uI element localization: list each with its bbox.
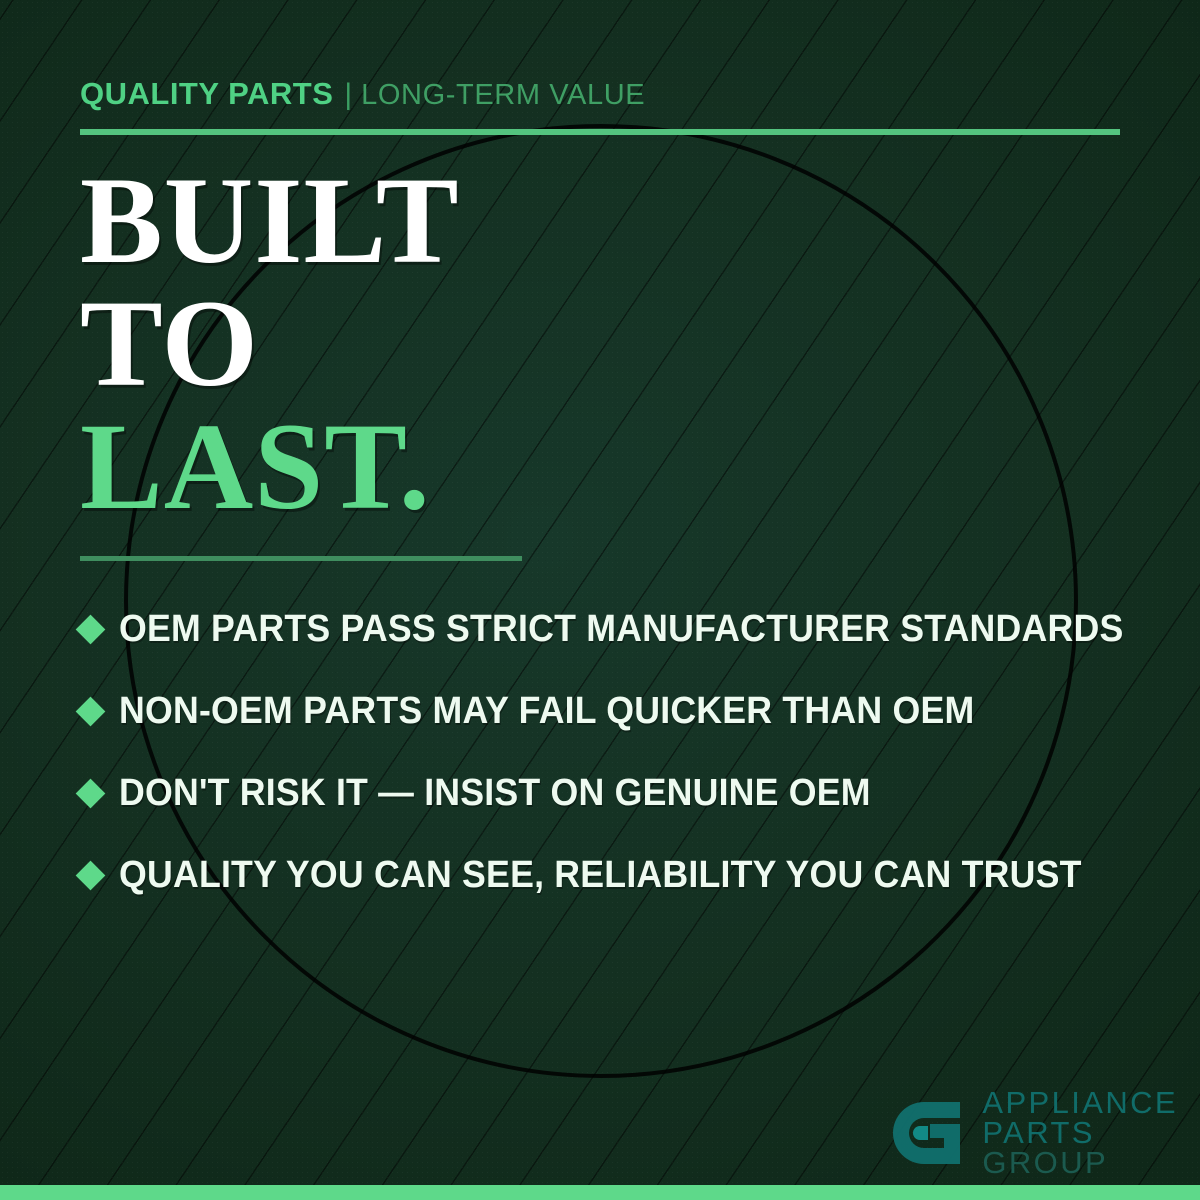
diamond-bullet-icon xyxy=(76,860,106,890)
promo-poster: QUALITY PARTS | LONG-TERM VALUE BUILT TO… xyxy=(0,0,1200,1200)
eyebrow-secondary-text: LONG-TERM VALUE xyxy=(361,79,645,112)
header-divider-rule xyxy=(80,129,1120,135)
headline-line-3: LAST. xyxy=(80,406,460,529)
list-item-label: OEM PARTS PASS STRICT MANUFACTURER STAND… xyxy=(119,608,1123,651)
eyebrow-separator: | xyxy=(333,78,361,112)
eyebrow-heading: QUALITY PARTS | LONG-TERM VALUE xyxy=(80,76,645,112)
eyebrow-primary-text: QUALITY PARTS xyxy=(80,76,333,112)
brand-word-appliance: APPLIANCE xyxy=(982,1088,1178,1118)
g-monogram-icon xyxy=(890,1094,968,1172)
bottom-accent-bar xyxy=(0,1185,1200,1200)
headline-line-2: TO xyxy=(80,283,460,406)
diamond-bullet-icon xyxy=(76,696,106,726)
list-item-label: NON-OEM PARTS MAY FAIL QUICKER THAN OEM xyxy=(119,690,974,733)
list-item: QUALITY YOU CAN SEE, RELIABILITY YOU CAN… xyxy=(80,834,1150,916)
poster-content: QUALITY PARTS | LONG-TERM VALUE BUILT TO… xyxy=(0,0,1200,1200)
headline-line-1: BUILT xyxy=(80,160,460,283)
brand-wordmark: APPLIANCE PARTS GROUP xyxy=(982,1088,1178,1178)
list-item-label: DON'T RISK IT — INSIST ON GENUINE OEM xyxy=(119,772,871,815)
headline-block: BUILT TO LAST. xyxy=(80,160,460,528)
list-item: OEM PARTS PASS STRICT MANUFACTURER STAND… xyxy=(80,588,1150,670)
list-item-label: QUALITY YOU CAN SEE, RELIABILITY YOU CAN… xyxy=(119,854,1082,897)
diamond-bullet-icon xyxy=(76,778,106,808)
list-item: DON'T RISK IT — INSIST ON GENUINE OEM xyxy=(80,752,1150,834)
list-item: NON-OEM PARTS MAY FAIL QUICKER THAN OEM xyxy=(80,670,1150,752)
benefit-list: OEM PARTS PASS STRICT MANUFACTURER STAND… xyxy=(80,588,1150,916)
diamond-bullet-icon xyxy=(76,614,106,644)
brand-logo-lockup: APPLIANCE PARTS GROUP xyxy=(890,1088,1178,1178)
headline-divider-rule xyxy=(80,556,522,561)
brand-word-group: GROUP xyxy=(982,1148,1178,1178)
brand-word-parts: PARTS xyxy=(982,1118,1178,1148)
